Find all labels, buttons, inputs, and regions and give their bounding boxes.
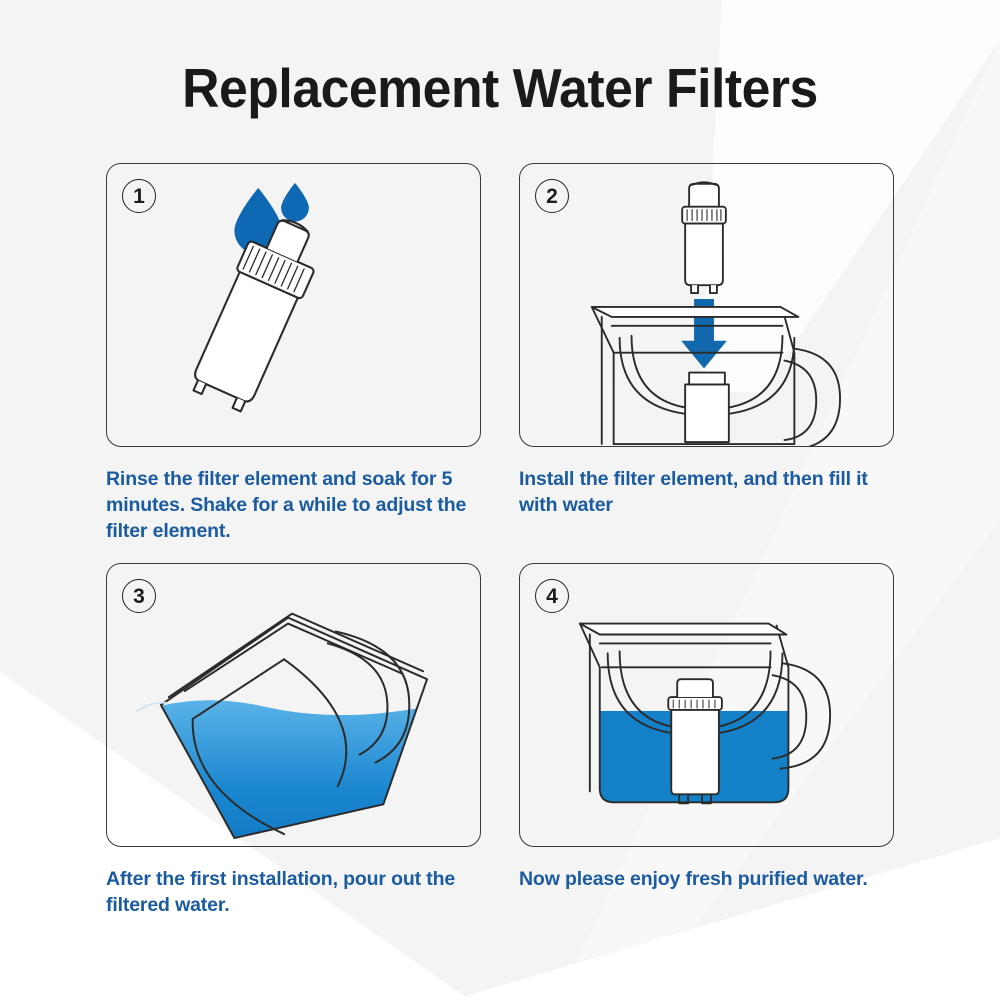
page-title: Replacement Water Filters [30, 57, 970, 119]
step-4-caption: Now please enjoy fresh purified water. [519, 866, 891, 892]
step-3-number-badge: 3 [122, 579, 156, 613]
step-4-card: 4 [519, 563, 894, 847]
steps-grid: 1 [106, 163, 895, 923]
step-3-illustration [107, 564, 480, 846]
step-4-number-badge: 4 [535, 579, 569, 613]
step-2: 2 [519, 163, 894, 518]
step-4-illustration [520, 564, 893, 846]
step-1-number-badge: 1 [122, 179, 156, 213]
step-2-illustration [520, 164, 893, 446]
water-fill [137, 700, 445, 846]
step-2-number-badge: 2 [535, 179, 569, 213]
step-2-caption: Install the filter element, and then fil… [519, 466, 891, 518]
infographic-page: Replacement Water Filters 1 [0, 0, 1000, 1000]
step-2-card: 2 [519, 163, 894, 447]
step-1-illustration [107, 164, 480, 446]
pitcher-filled-icon [560, 624, 838, 831]
tilted-pitcher-icon [137, 614, 445, 846]
filter-cartridge-upright-icon [682, 182, 726, 293]
step-3-card: 3 [106, 563, 481, 847]
pitcher-icon [592, 307, 840, 446]
step-3-caption: After the first installation, pour out t… [106, 866, 478, 918]
step-4: 4 [519, 563, 894, 892]
step-1-card: 1 [106, 163, 481, 447]
step-1-caption: Rinse the filter element and soak for 5 … [106, 466, 478, 544]
step-3: 3 [106, 563, 481, 918]
step-1: 1 [106, 163, 481, 544]
